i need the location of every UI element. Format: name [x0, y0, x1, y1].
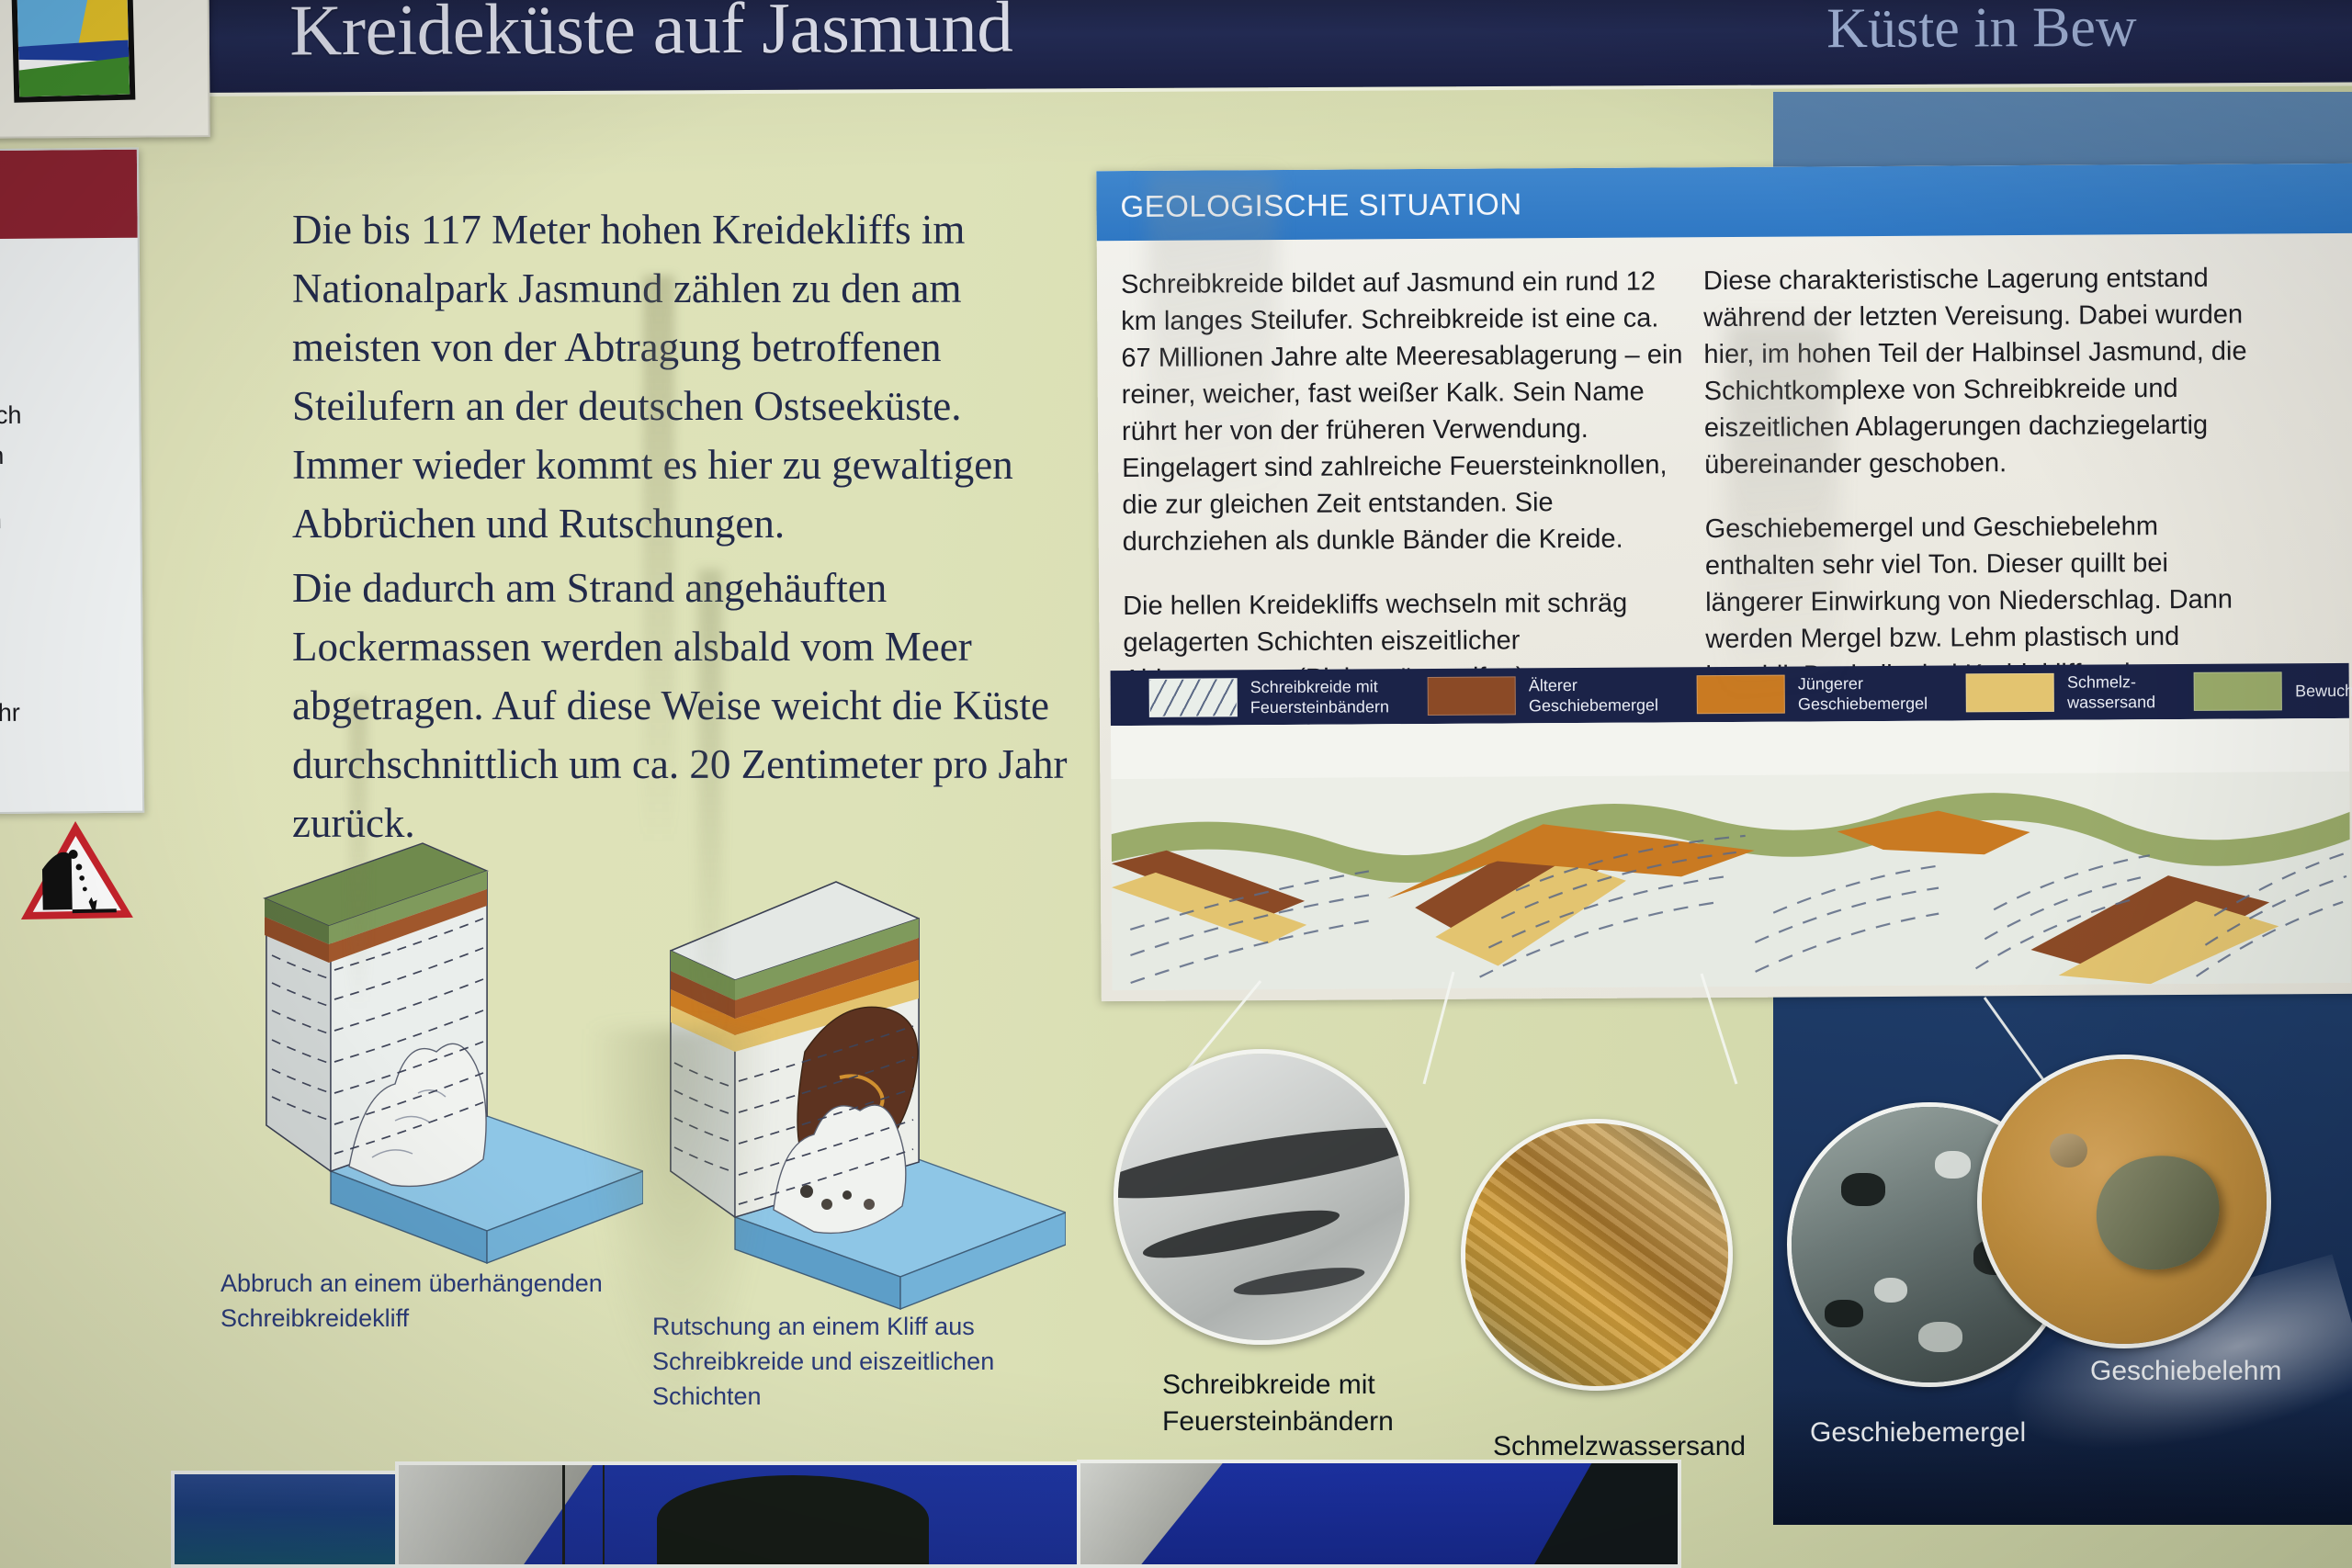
cliff-collapse-block-diagram [211, 790, 643, 1268]
legend-item: Schmelz- wassersand [1966, 671, 2155, 713]
safety-card-header: TE [0, 150, 138, 241]
legend-item: Älterer Geschiebemergel [1428, 674, 1658, 716]
info-panel-photograph: Kreideküste auf Jasmund Küste in Bew gn … [0, 0, 2352, 1568]
geology-panel-header: GEOLOGISCHE SITUATION [1096, 164, 2352, 241]
safety-card-body: Jasmundbbrüche,schläge. rdet, der sichn … [0, 249, 141, 816]
landscape-logo-icon [12, 0, 136, 103]
page-title: Kreideküste auf Jasmund [289, 0, 1012, 67]
photo-circle-chalk-flint [1114, 1049, 1409, 1345]
bottom-photo-3 [1077, 1460, 1681, 1568]
legend-label: Schreibkreide mit Feuersteinbändern [1250, 676, 1389, 717]
geology-heading: GEOLOGISCHE SITUATION [1120, 186, 1521, 224]
geology-left-paragraph-1: Schreibkreide bildet auf Jasmund ein run… [1121, 263, 1685, 560]
legend-label: Jüngerer Geschiebemergel [1798, 673, 1928, 715]
photo-circle-meltwater-sand [1461, 1119, 1733, 1391]
cliff-slide-block-diagram [643, 831, 1066, 1318]
photo-circle-boulder-clay [1977, 1055, 2271, 1348]
legend-item: Jüngerer Geschiebemergel [1697, 673, 1928, 716]
logo-card: gn gie [0, 0, 210, 139]
bottom-photo-1 [171, 1471, 404, 1568]
legend-swatch-chalk [1149, 678, 1238, 717]
intro-paragraph-1: Die bis 117 Meter hohen Kreidekliffs im … [292, 200, 1073, 553]
legend-swatch-older-marl [1428, 676, 1516, 716]
page-subtitle: Küste in Bew [1826, 0, 2137, 57]
legend-label: Schmelz- wassersand [2067, 671, 2155, 713]
cross-section-legend: Schreibkreide mit Feuersteinbändern Älte… [1111, 663, 2349, 726]
legend-swatch-vegetation [2194, 671, 2282, 711]
diagram-caption-2: Rutschung an einem Kliff aus Schreibkrei… [652, 1309, 1075, 1414]
photo-caption-boulder-marl: Geschiebemergel [1810, 1415, 2104, 1451]
legend-item: Bewuchs [2194, 671, 2352, 711]
legend-swatch-younger-marl [1697, 675, 1785, 715]
legend-swatch-meltwater-sand [1966, 673, 2054, 713]
panel-title-bar: Kreideküste auf Jasmund Küste in Bew [0, 0, 2352, 94]
legend-item: Schreibkreide mit Feuersteinbändern [1149, 676, 1389, 718]
legend-label: Bewuchs [2295, 681, 2352, 701]
geology-panel: GEOLOGISCHE SITUATION Schreibkreide bild… [1096, 164, 2352, 1001]
sea-shadow [1773, 1387, 2352, 1525]
photo-caption-boulder-clay: Geschiebelehm [2090, 1353, 2352, 1390]
safety-info-card: TE Jasmundbbrüche,schläge. rdet, der sic… [0, 148, 144, 816]
falling-rocks-warning-icon [16, 817, 137, 925]
photo-caption-chalk-flint: Schreibkreide mit Feuersteinbändern [1162, 1367, 1438, 1440]
bottom-photo-2 [395, 1461, 1082, 1568]
geology-right-paragraph-1: Diese charakteristische Lagerung entstan… [1703, 259, 2267, 483]
intro-article: Die bis 117 Meter hohen Kreidekliffs im … [292, 200, 1073, 858]
diagram-caption-1: Abbruch an einem überhängenden Schreibkr… [220, 1266, 606, 1336]
legend-label: Älterer Geschiebemergel [1529, 674, 1658, 716]
